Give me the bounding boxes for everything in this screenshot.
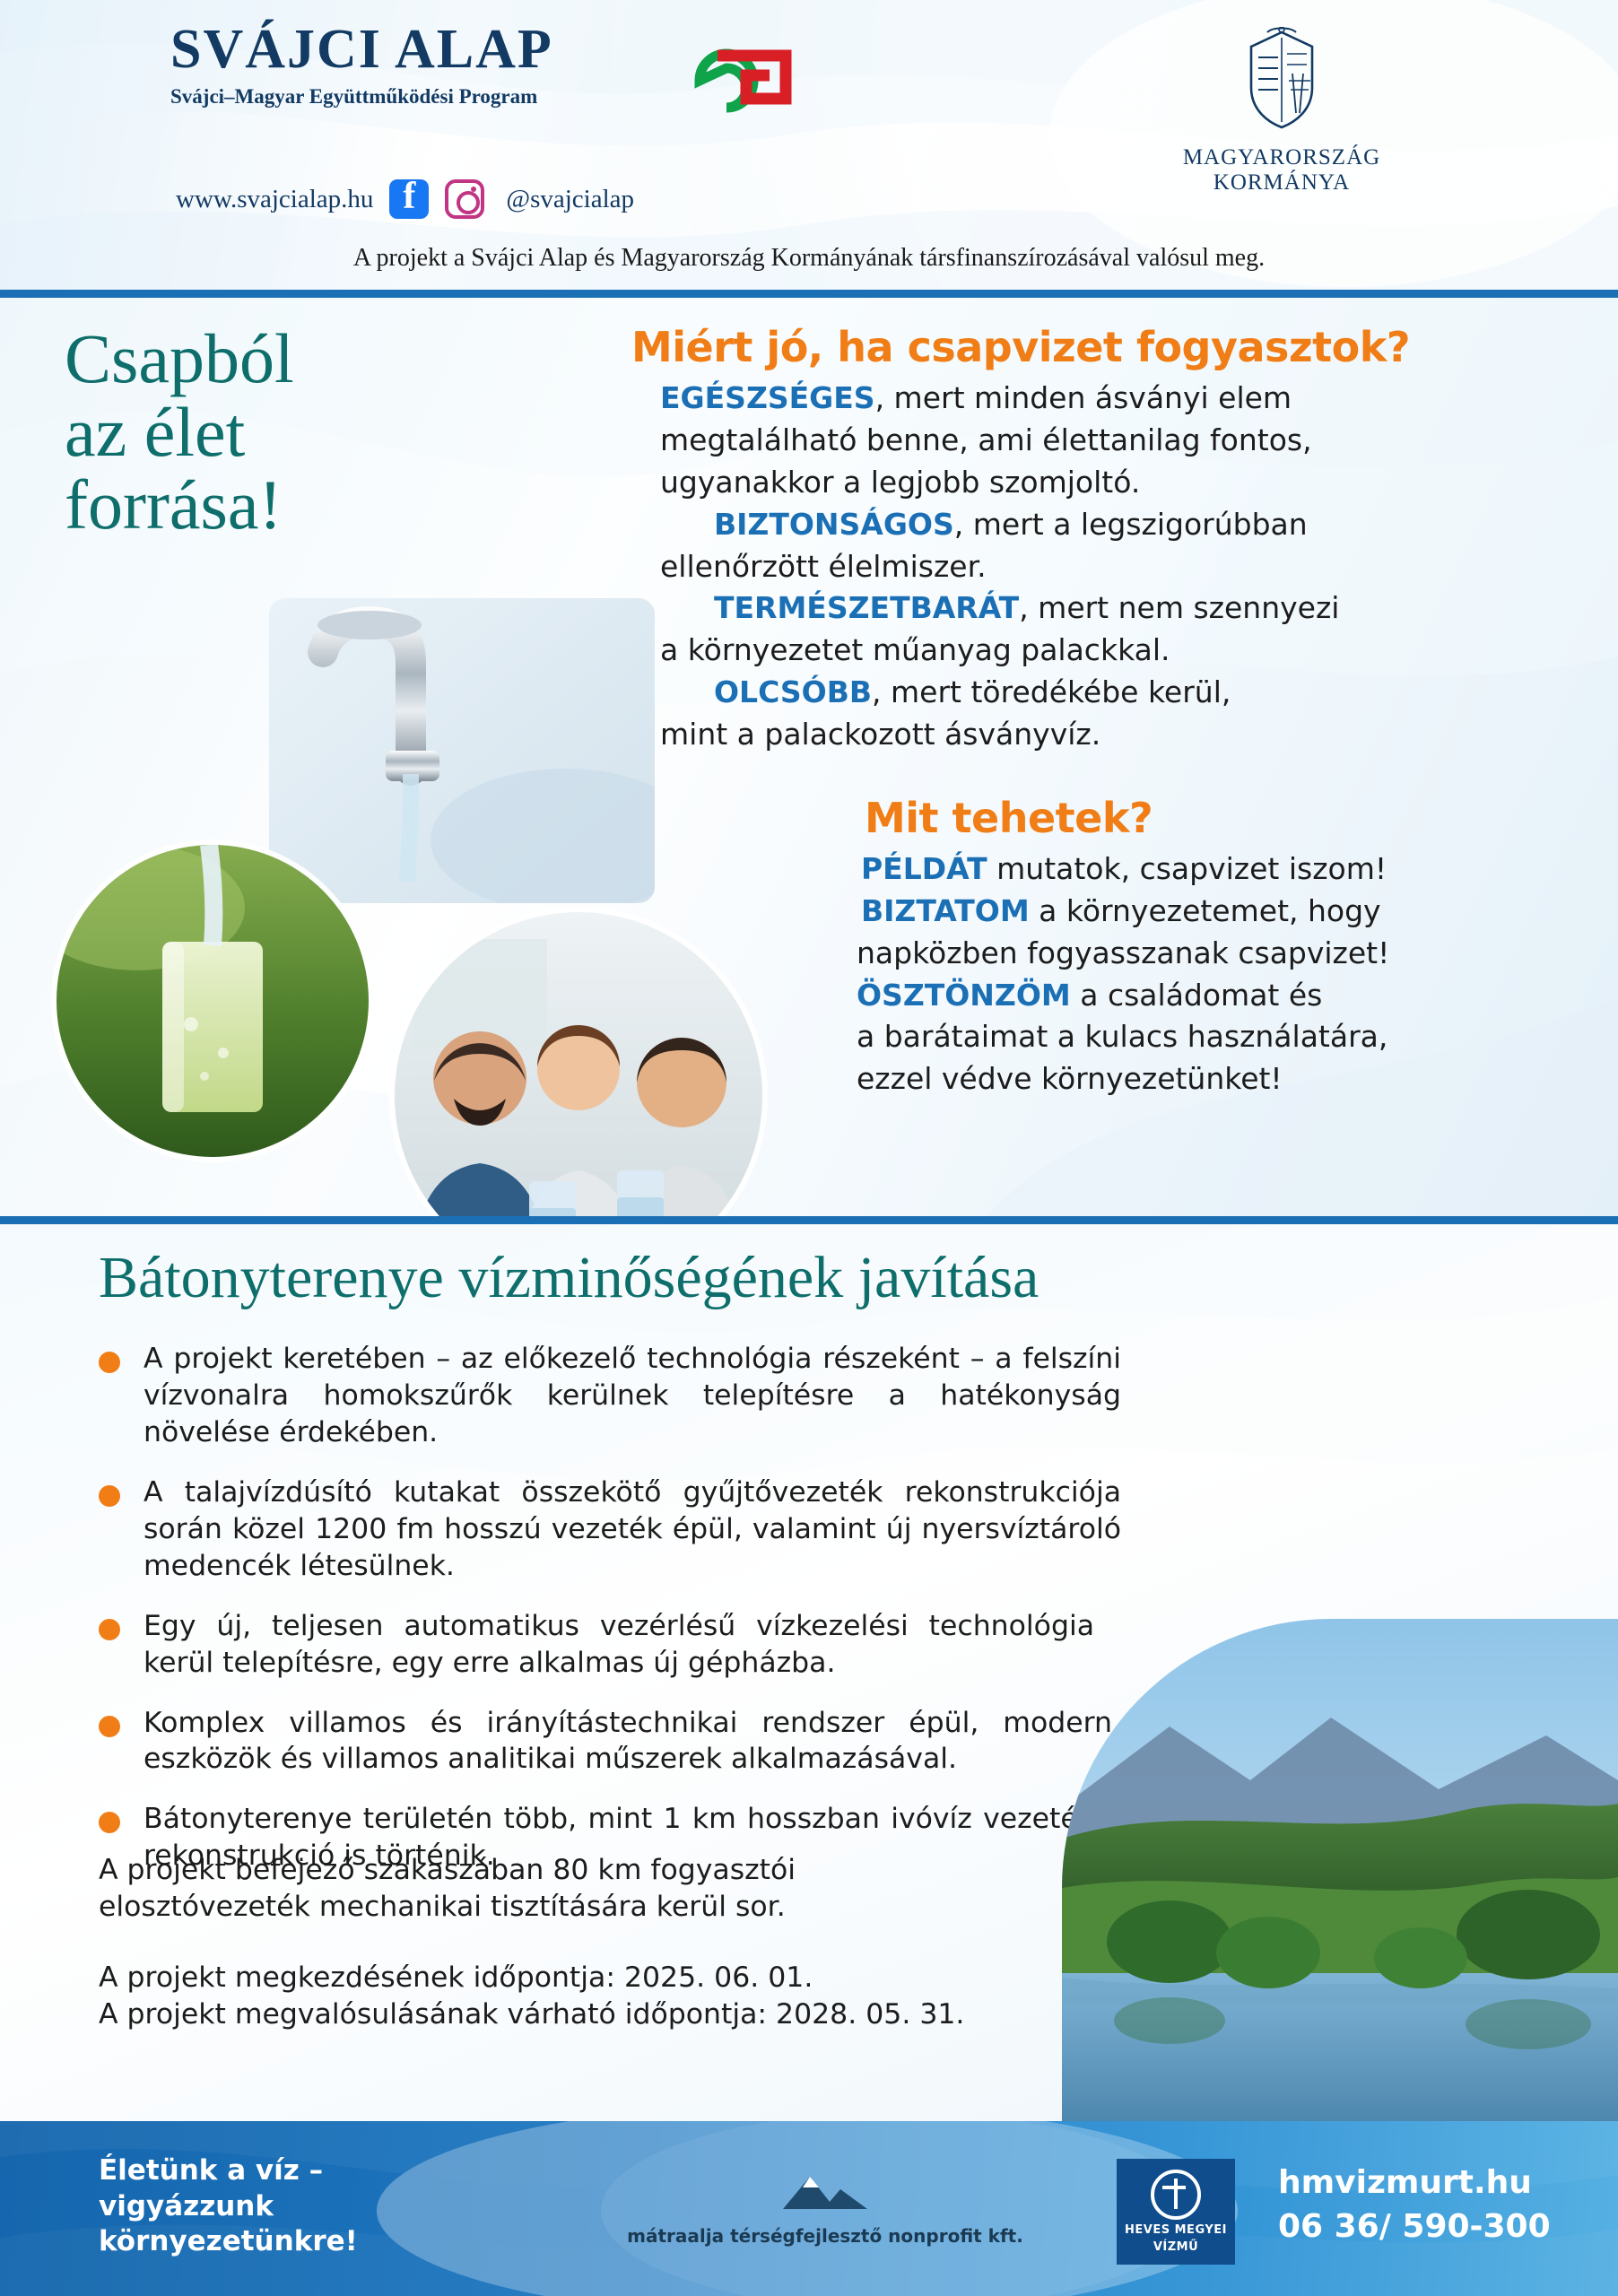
list-item: Egy új, teljesen automatikus vezérlésű v… [99, 1608, 1121, 1682]
bullet-text: Komplex villamos és irányítástechnikai r… [144, 1705, 1112, 1779]
bullet-dot-icon [99, 1619, 120, 1640]
benefits-column: Miért jó, ha csapvizet fogyasztok? EGÉSZ… [628, 323, 1579, 1101]
what-list: PÉLDÁT mutatok, csapvizet iszom! BIZTATO… [628, 849, 1579, 1099]
instagram-icon[interactable] [445, 179, 484, 219]
what-kw-0: PÉLDÁT [861, 851, 987, 886]
what-kw-3: ÖSZTÖNZÖM [857, 978, 1071, 1013]
why-rest-3: , mert a legszigorúbban [954, 507, 1308, 542]
project-title: Bátonyterenye vízminőségének javítása [99, 1244, 1039, 1312]
why-rest-2: ugyanakkor a legjobb szomjoltó. [660, 465, 1140, 500]
what-heading: Mit tehetek? [631, 794, 1579, 842]
slogan-line-2: vigyázzunk [99, 2189, 358, 2225]
footer-phone[interactable]: 06 36/ 590-300 [1278, 2208, 1551, 2245]
project-bullet-list: A projekt keretében – az előkezelő techn… [99, 1341, 1121, 1898]
mountain-icon [776, 2164, 874, 2214]
why-rest-6: a környezetet műanyag palackkal. [660, 632, 1170, 667]
date-line-1: A projekt megkezdésének időpontja: 2025.… [99, 1960, 996, 1996]
hero-title-line3: forrása! [65, 469, 603, 541]
matraalja-caption: mátraalja térségfejlesztő nonprofit kft. [574, 2225, 1076, 2247]
project-section: Bátonyterenye vízminőségének javítása A … [0, 1216, 1618, 2121]
hero-title-line2: az élet [65, 396, 603, 468]
bullet-text: A talajvízdúsító kutakat összekötő gyűjt… [144, 1474, 1121, 1585]
tap-photo-illustration [269, 598, 655, 903]
bullet-text: Egy új, teljesen automatikus vezérlésű v… [144, 1608, 1094, 1682]
list-item: A talajvízdúsító kutakat összekötő gyűjt… [99, 1474, 1121, 1585]
why-rest-4: ellenőrzött élelmiszer. [660, 549, 987, 584]
footer-contact: hmvizmurt.hu 06 36/ 590-300 [1278, 2164, 1551, 2245]
website-url[interactable]: www.svajcialap.hu [176, 185, 373, 214]
what-rest-5: ezzel védve környezetünket! [857, 1061, 1283, 1096]
header-divider [0, 290, 1618, 298]
hero-title-line1: Csapból [65, 323, 603, 395]
vizmu-line-1: HEVES MEGYEI [1125, 2223, 1227, 2237]
list-item: Komplex villamos és irányítástechnikai r… [99, 1705, 1121, 1779]
why-kw-5: TERMÉSZETBARÁT [714, 590, 1019, 625]
what-rest-0: mutatok, csapvizet iszom! [987, 851, 1387, 886]
project-closing-paragraph: A projekt befejező szakaszában 80 km fog… [99, 1852, 996, 1926]
why-heading: Miért jó, ha csapvizet fogyasztok? [631, 323, 1579, 371]
why-kw-7: OLCSÓBB [714, 674, 872, 709]
list-item: A projekt keretében – az előkezelő techn… [99, 1341, 1121, 1451]
project-dates: A projekt megkezdésének időpontja: 2025.… [99, 1960, 996, 2033]
social-handle: @svajcialap [506, 185, 634, 214]
why-rest-5: , mert nem szennyezi [1019, 590, 1339, 625]
why-list: EGÉSZSÉGES, mert minden ásványi elem meg… [628, 378, 1579, 754]
poster: SVÁJCI ALAP Svájci–Magyar Együttműködési… [0, 0, 1618, 2296]
why-rest-0: , mert minden ásványi elem [875, 380, 1292, 415]
water-glass-photo [57, 845, 369, 1157]
landscape-photo [1062, 1619, 1618, 2121]
closing-line-1: A projekt befejező szakaszában 80 km fog… [99, 1852, 996, 1889]
slogan-line-1: Életünk a víz – [99, 2153, 358, 2189]
swiss-hungarian-logo-icon [692, 39, 800, 122]
what-rest-1: a környezetemet, hogy [1030, 893, 1381, 928]
date-line-2: A projekt megvalósulásának várható időpo… [99, 1996, 996, 2033]
heves-vizmu-logo: HEVES MEGYEI VÍZMŰ [1117, 2159, 1235, 2265]
what-rest-3: a családomat és [1071, 978, 1323, 1013]
why-kw-0: EGÉSZSÉGES [660, 380, 875, 415]
hungary-coat-of-arms-icon [1240, 27, 1323, 133]
bullet-dot-icon [99, 1716, 120, 1737]
why-rest-8: mint a palackozott ásványvíz. [660, 717, 1100, 752]
why-rest-1: megtalálható benne, ami élettanilag font… [660, 422, 1312, 457]
water-glass-illustration [57, 845, 369, 1157]
footer: Életünk a víz – vigyázzunk környezetünkr… [0, 2121, 1618, 2296]
why-kw-3: BIZTONSÁGOS [714, 507, 954, 542]
what-rest-2: napközben fogyasszanak csapvizet! [857, 935, 1389, 970]
bullet-dot-icon [99, 1485, 120, 1507]
what-rest-4: a barátaimat a kulacs használatára, [857, 1019, 1387, 1054]
government-emblem: MAGYARORSZÁG KORMÁNYA [1174, 27, 1389, 196]
slogan-line-3: környezetünkre! [99, 2224, 358, 2260]
matraalja-logo: mátraalja térségfejlesztő nonprofit kft. [574, 2164, 1076, 2247]
what-kw-1: BIZTATOM [861, 893, 1030, 928]
social-row: www.svajcialap.hu @svajcialap [176, 179, 634, 219]
footer-slogan: Életünk a víz – vigyázzunk környezetünkr… [99, 2153, 358, 2260]
hero-title: Csapból az élet forrása! [65, 323, 603, 543]
bullet-dot-icon [99, 1812, 120, 1833]
vizmu-line-2: VÍZMŰ [1153, 2240, 1198, 2254]
footer-website[interactable]: hmvizmurt.hu [1278, 2164, 1551, 2201]
emblem-line-1: MAGYARORSZÁG [1174, 145, 1389, 170]
tap-photo [269, 598, 655, 903]
emblem-line-2: KORMÁNYA [1174, 170, 1389, 196]
facebook-icon[interactable] [389, 179, 429, 219]
header: SVÁJCI ALAP Svájci–Magyar Együttműködési… [0, 0, 1618, 298]
bullet-text: A projekt keretében – az előkezelő techn… [144, 1341, 1121, 1451]
why-rest-7: , mert töredékébe kerül, [872, 674, 1231, 709]
cofinancing-note: A projekt a Svájci Alap és Magyarország … [0, 244, 1618, 273]
vizmu-symbol-icon [1151, 2170, 1201, 2220]
closing-line-2: elosztóvezeték mechanikai tisztítására k… [99, 1889, 996, 1926]
tap-water-section: Csapból az élet forrása! [0, 298, 1618, 1216]
bullet-dot-icon [99, 1352, 120, 1373]
landscape-illustration [1062, 1619, 1618, 2121]
